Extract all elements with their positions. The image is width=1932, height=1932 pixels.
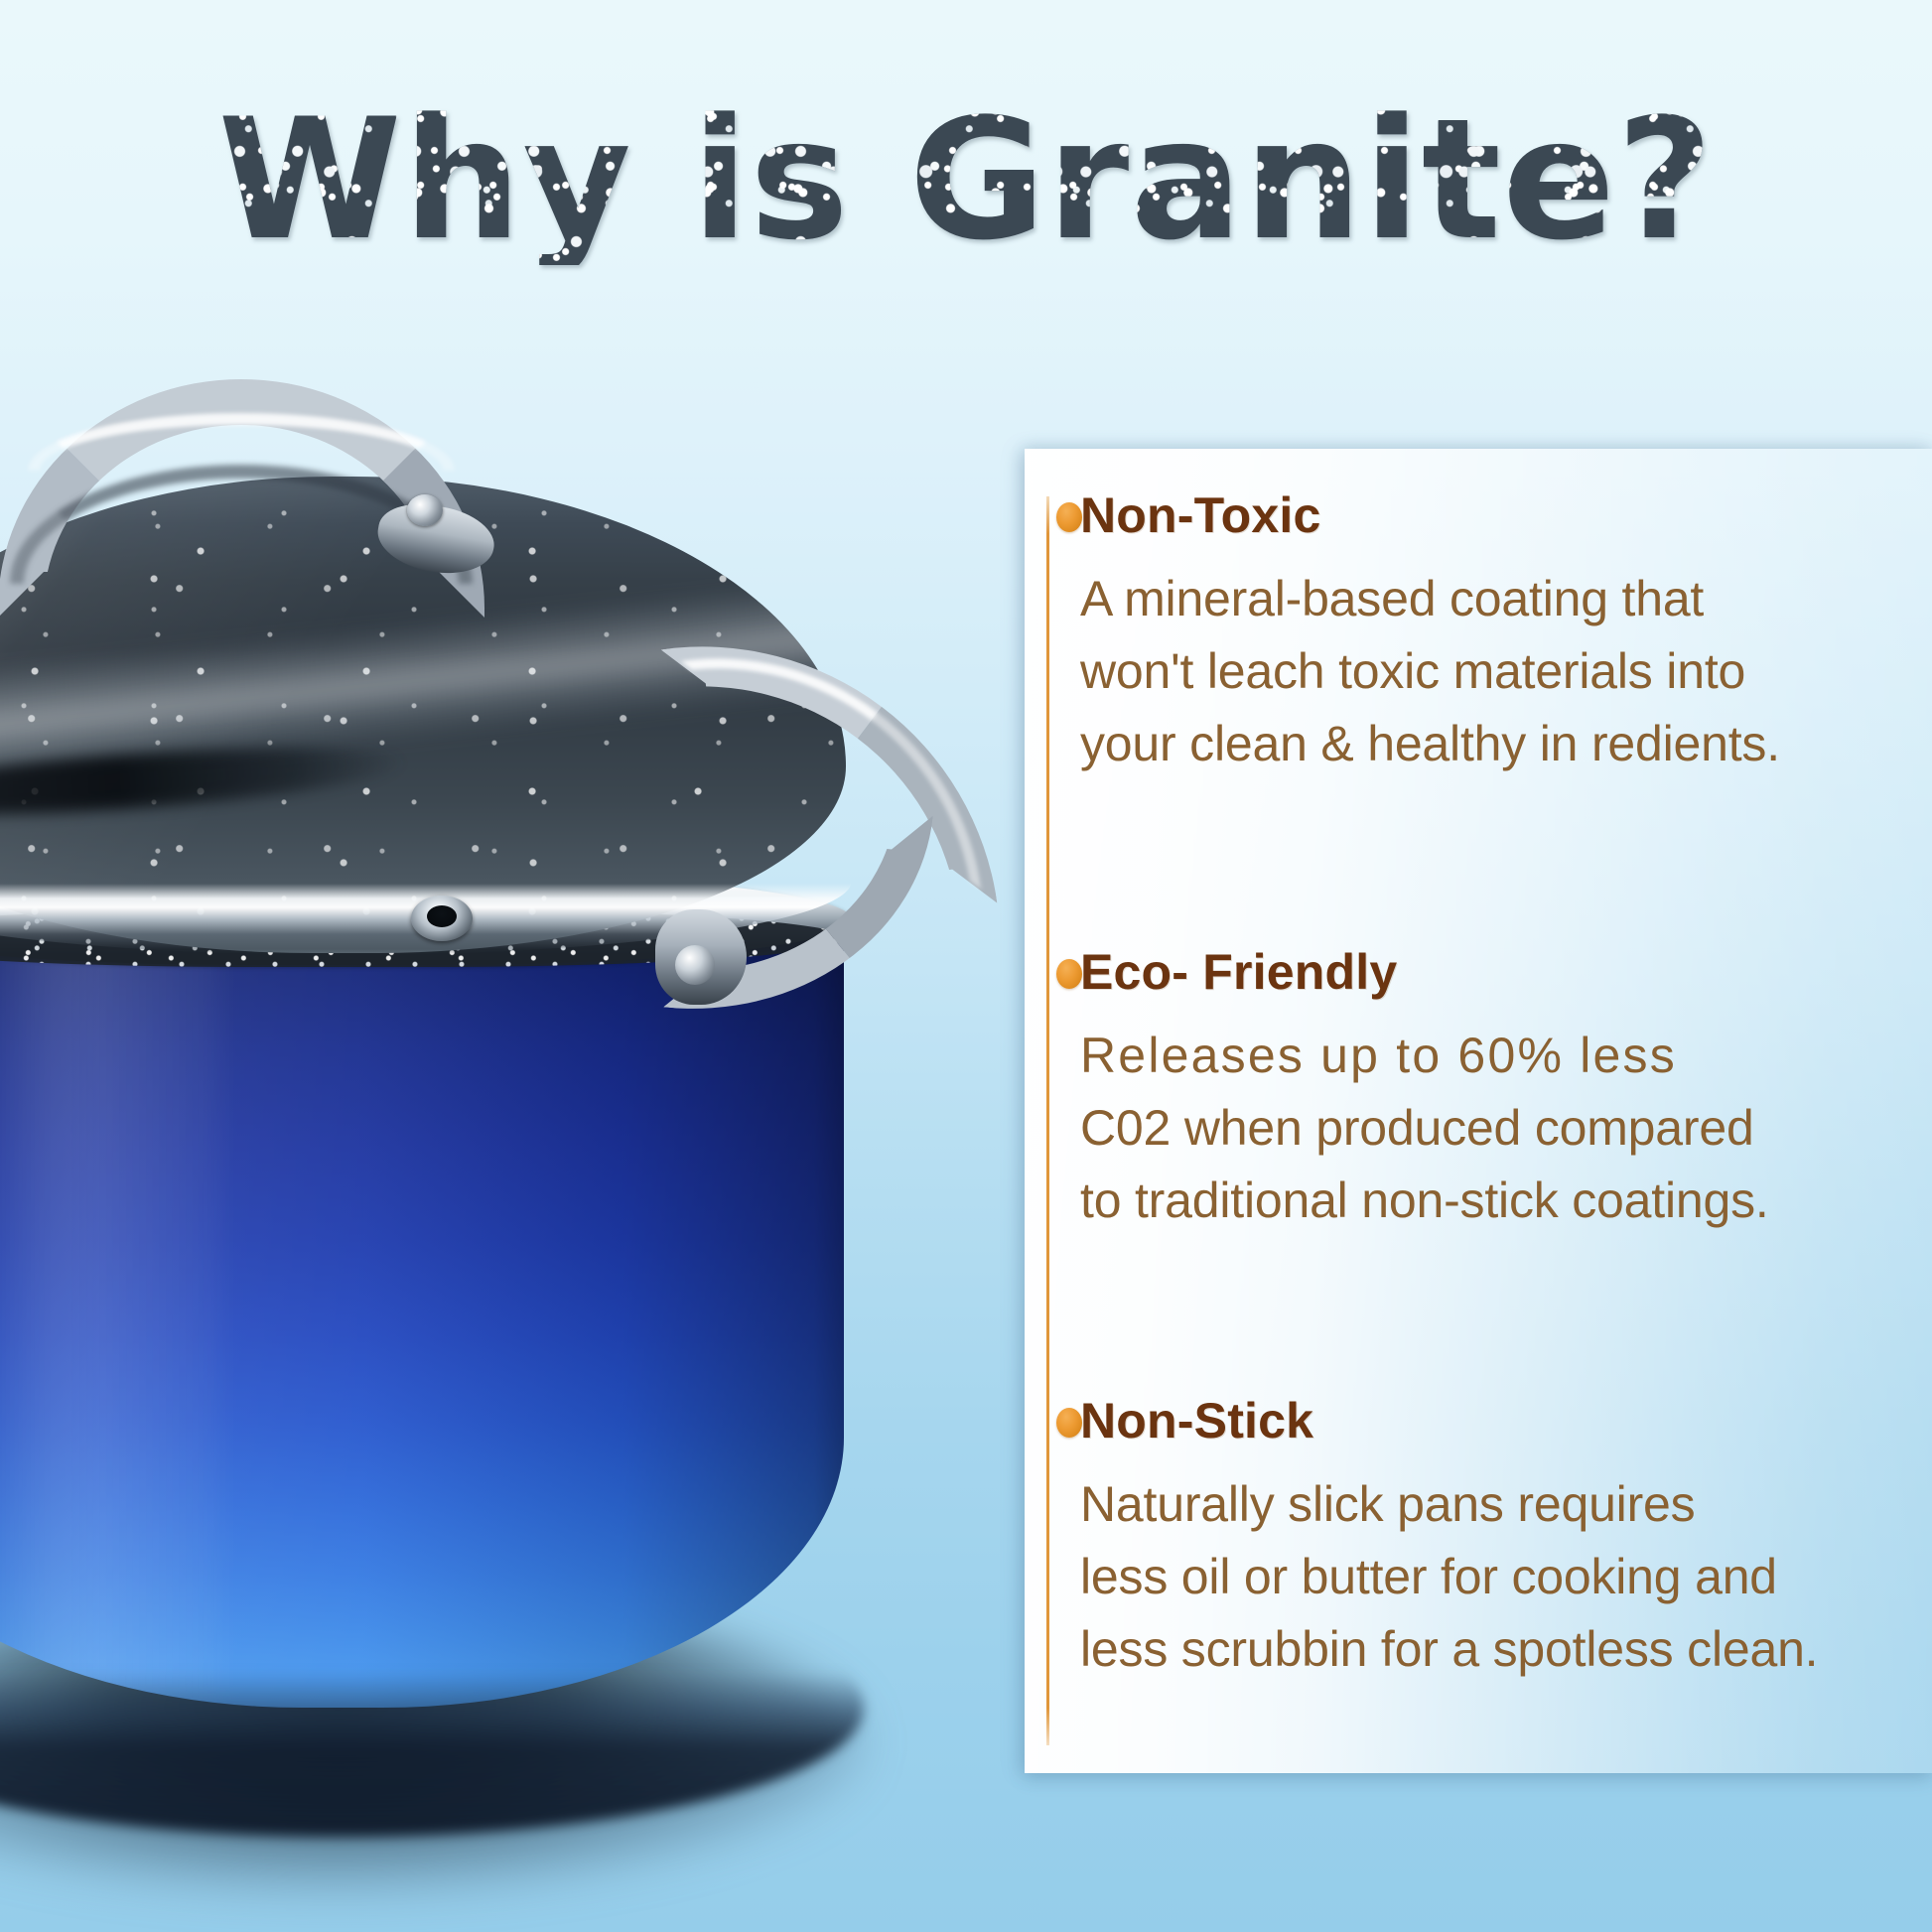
steam-vent-hole [427,905,457,927]
page-title: Why is Granite? [218,95,1715,265]
feature-body-line: won't leach toxic materials into [1080,635,1910,708]
feature-body-non-toxic: A mineral-based coating that won't leach… [1080,563,1910,780]
timeline-rail [1046,496,1049,1745]
timeline-dot-icon [1056,959,1082,989]
feature-title-non-toxic: Non-Toxic [1080,488,1910,543]
feature-item-non-toxic: Non-Toxic A mineral-based coating that w… [1080,488,1910,780]
feature-item-non-stick: Non-Stick Naturally slick pans requires … [1080,1394,1910,1686]
feature-body-line: less oil or butter for cooking and [1080,1541,1910,1613]
timeline-dot-icon [1056,502,1082,532]
feature-title-eco-friendly: Eco- Friendly [1080,945,1910,1000]
feature-body-line: less scrubbin for a spotless clean. [1080,1613,1910,1686]
feature-body-line: to traditional non-stick coatings. [1080,1165,1910,1237]
features-panel: Non-Toxic A mineral-based coating that w… [1025,449,1932,1773]
feature-body-line: your clean & healthy in redients. [1080,708,1910,780]
side-handle-highlight [681,624,982,927]
feature-body-line: Releases up to 60% less [1080,1020,1910,1092]
headline-container: Why is Granite? [0,95,1932,265]
feature-body-non-stick: Naturally slick pans requires less oil o… [1080,1468,1910,1686]
lid-handle-rivet [407,494,443,526]
feature-body-line: A mineral-based coating that [1080,563,1910,635]
feature-body-eco-friendly: Releases up to 60% less C02 when produce… [1080,1020,1910,1237]
feature-body-line: Naturally slick pans requires [1080,1468,1910,1541]
infographic-canvas: Why is Granite? Non-Toxic A mineral-base… [0,0,1932,1932]
timeline-dot-icon [1056,1408,1082,1438]
product-image-granite-stockpot [0,357,1062,1847]
feature-body-line: C02 when produced compared [1080,1092,1910,1165]
feature-title-non-stick: Non-Stick [1080,1394,1910,1449]
lid-handle-highlight [28,413,455,471]
feature-item-eco-friendly: Eco- Friendly Releases up to 60% less C0… [1080,945,1910,1237]
side-handle-rivet [675,945,715,985]
